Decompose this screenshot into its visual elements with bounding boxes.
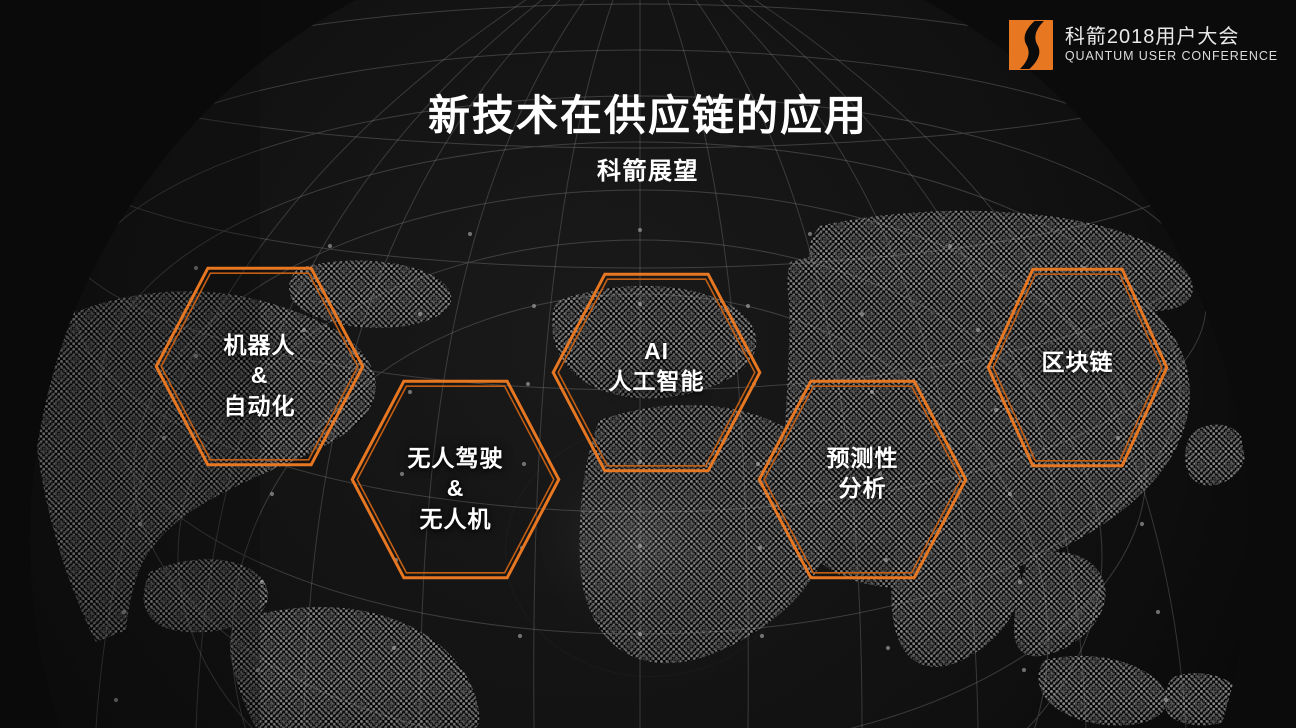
hexagon-outline-icon — [350, 379, 561, 580]
hexagon-robotics-automation[interactable]: 机器人 & 自动化 — [154, 266, 365, 467]
hexagon-ai[interactable]: AI 人工智能 — [551, 272, 762, 473]
presentation-slide: 科箭2018用户大会 QUANTUM USER CONFERENCE 新技术在供… — [0, 0, 1296, 728]
hexagon-outline-icon — [154, 266, 365, 467]
hexagon-predictive-analytics[interactable]: 预测性 分析 — [757, 379, 968, 580]
hexagon-group: 机器人 & 自动化无人驾驶 & 无人机AI 人工智能预测性 分析区块链 — [0, 0, 1296, 728]
hexagon-outline-icon — [551, 272, 762, 473]
hexagon-outline-icon — [757, 379, 968, 580]
hexagon-blockchain[interactable]: 区块链 — [986, 267, 1169, 468]
hexagon-autonomous-driving-drones[interactable]: 无人驾驶 & 无人机 — [350, 379, 561, 580]
hexagon-outline-icon — [986, 267, 1169, 468]
